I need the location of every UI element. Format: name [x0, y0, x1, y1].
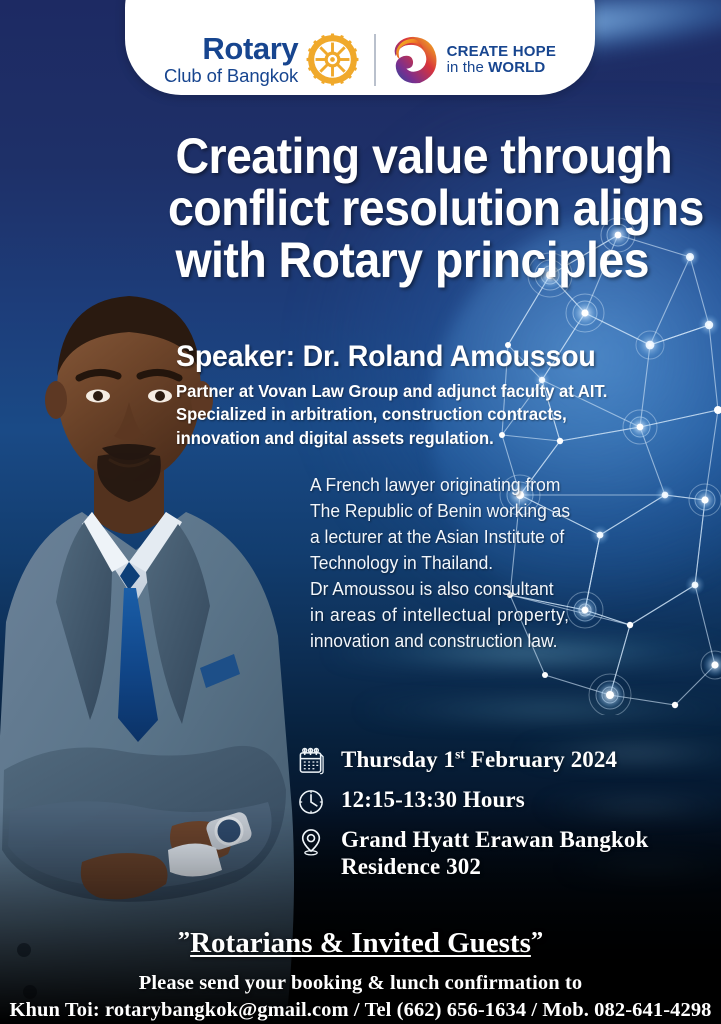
- booking-info: Please send your booking & lunch confirm…: [0, 970, 721, 1024]
- rotary-wordmark: Rotary: [202, 33, 298, 64]
- audience-note: ”Rotarians & Invited Guests”: [0, 927, 721, 960]
- audience-text: Rotarians & Invited Guests: [190, 927, 531, 959]
- create-hope-lockup: CREATE HOPE in the WORLD: [391, 35, 556, 85]
- about-line-5: Dr Amoussou is also consultant: [310, 576, 601, 602]
- about-line-7: innovation and construction law.: [310, 628, 601, 654]
- event-date: Thursday 1st February 2024: [341, 746, 617, 773]
- detail-row-time: 12:15-13:30 Hours: [298, 786, 698, 817]
- open-quote: ”: [178, 927, 190, 954]
- about-line-4: Technology in Thailand.: [310, 550, 601, 576]
- title-line-2: conflict resolution aligns: [168, 183, 675, 235]
- theme-line-2: in the WORLD: [447, 60, 556, 76]
- speaker-bio-line-2: Specialized in arbitration, construction…: [176, 403, 585, 426]
- poster-title: Creating value through conflict resoluti…: [168, 131, 713, 286]
- speaker-bio-line-1: Partner at Vovan Law Group and adjunct f…: [176, 380, 585, 403]
- about-line-6: in areas of intellectual property,: [310, 602, 601, 628]
- event-poster: Rotary Club of Bangkok: [0, 0, 721, 1024]
- about-line-2: The Republic of Benin working as: [310, 498, 601, 524]
- rotary-header-panel: Rotary Club of Bangkok: [125, 0, 595, 95]
- club-name: Club of Bangkok: [164, 67, 298, 86]
- event-time: 12:15-13:30 Hours: [341, 786, 525, 813]
- clock-icon: [298, 787, 325, 817]
- speaker-about: A French lawyer originating from The Rep…: [310, 472, 601, 654]
- about-line-1: A French lawyer originating from: [310, 472, 601, 498]
- detail-row-date: Thursday 1st February 2024: [298, 746, 698, 777]
- title-line-3: with Rotary principles: [168, 235, 675, 287]
- detail-row-venue: Grand Hyatt Erawan BangkokResidence 302: [298, 826, 698, 880]
- rotary-club-lockup: Rotary Club of Bangkok: [164, 33, 359, 86]
- create-hope-swirl-icon: [391, 35, 439, 85]
- logo-divider: [374, 34, 375, 86]
- speaker-name: Speaker: Dr. Roland Amoussou: [176, 340, 689, 374]
- event-venue: Grand Hyatt Erawan BangkokResidence 302: [341, 826, 648, 880]
- about-line-3: a lecturer at the Asian Institute of: [310, 524, 601, 550]
- speaker-bio: Partner at Vovan Law Group and adjunct f…: [176, 380, 585, 450]
- calendar-icon: [298, 747, 325, 777]
- rotary-wheel-icon: [306, 33, 359, 86]
- booking-line-1: Please send your booking & lunch confirm…: [0, 970, 721, 997]
- location-pin-icon: [298, 827, 325, 857]
- booking-line-2: Khun Toi: rotarybangkok@gmail.com / Tel …: [0, 997, 721, 1024]
- close-quote: ”: [531, 927, 543, 954]
- speaker-bio-line-3: innovation and digital assets regulation…: [176, 427, 585, 450]
- theme-line-1: CREATE HOPE: [447, 44, 556, 60]
- title-line-1: Creating value through: [168, 131, 675, 183]
- event-details: Thursday 1st February 2024 12:15-13:30 H…: [298, 746, 698, 880]
